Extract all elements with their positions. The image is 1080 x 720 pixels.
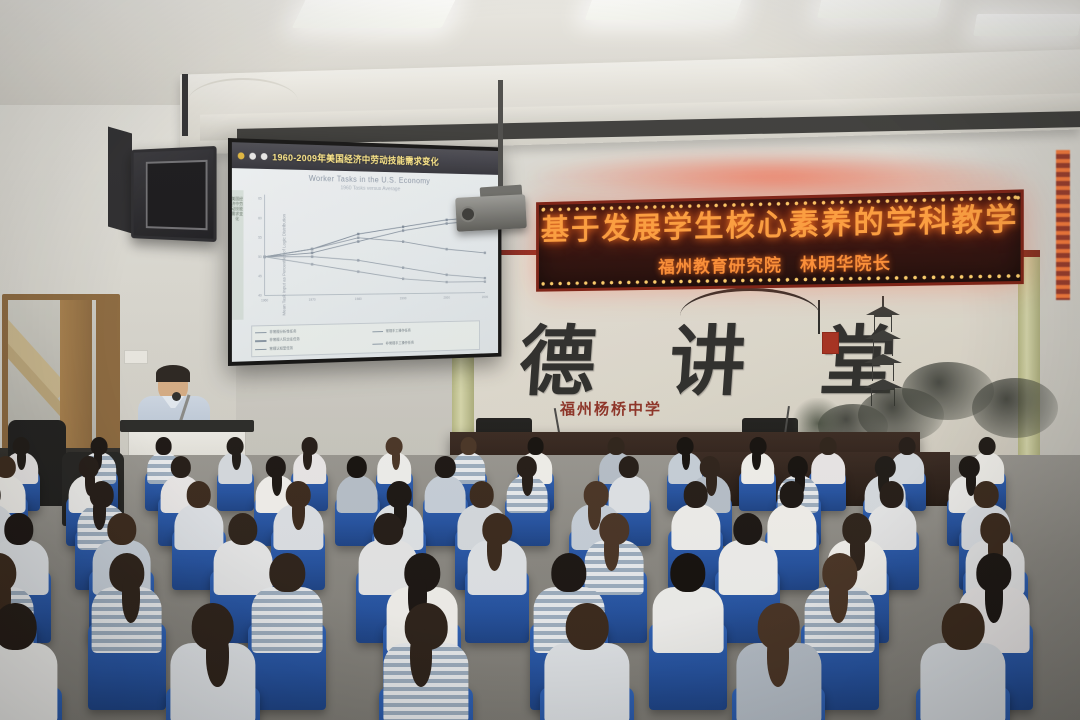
audience-head	[0, 603, 36, 650]
ceiling-projector	[455, 194, 527, 232]
svg-text:1980: 1980	[355, 297, 362, 301]
slide-title: 1960-2009年美国经济中劳动技能需求变化	[272, 149, 439, 167]
audience-member	[0, 603, 58, 720]
audience-member	[378, 437, 412, 487]
audience-member	[652, 553, 723, 658]
audience-head	[374, 513, 403, 545]
projector-mount-arm	[498, 80, 503, 200]
legend-swatch-icon	[255, 340, 266, 342]
audience-head	[879, 481, 904, 508]
chart-legend: 非常规分析性任务 非常规人际交往任务 常规认知型任务	[251, 320, 480, 357]
audience-hair	[487, 530, 502, 570]
audience-head	[527, 437, 544, 455]
audience-member	[741, 437, 775, 487]
legend-item: 非常规人际交往任务	[255, 336, 367, 344]
audience-member	[545, 603, 630, 720]
audience-head	[619, 456, 639, 478]
calligraphy-char-1: 德	[516, 300, 604, 410]
projector-lens-icon	[460, 206, 477, 223]
legend-swatch-icon	[372, 343, 383, 345]
ceiling-light-panel	[817, 0, 943, 18]
audience-member	[920, 603, 1005, 720]
audience-head	[551, 553, 586, 592]
svg-text:45: 45	[258, 274, 262, 278]
red-seal-stamp	[822, 332, 839, 354]
legend-label: 常规手工操作任务	[386, 328, 411, 333]
audience-head	[107, 513, 136, 545]
ceiling-light-panel	[585, 0, 746, 20]
audience-head	[187, 481, 212, 508]
audience-head	[899, 437, 916, 455]
audience-head	[0, 456, 16, 478]
legend-label: 常规认知型任务	[269, 346, 293, 352]
led-side-light-strip	[1056, 150, 1070, 300]
svg-text:1960: 1960	[261, 298, 268, 302]
audience-hair	[292, 496, 305, 530]
svg-text:1970: 1970	[309, 298, 316, 302]
audience-head	[820, 437, 837, 455]
podium-top-surface	[120, 420, 254, 432]
audience-member	[468, 513, 527, 600]
audience-head	[155, 437, 172, 455]
audience-torso	[920, 643, 1005, 720]
legend-item: 常规手工操作任务	[372, 327, 476, 334]
window-dot-icon	[238, 152, 245, 159]
svg-text:60: 60	[258, 216, 262, 220]
legend-item: 非常规手工操作任务	[372, 339, 476, 347]
audience-head	[228, 513, 257, 545]
audience-head	[779, 481, 804, 508]
legend-swatch-icon	[372, 331, 383, 333]
audience-head	[347, 456, 367, 478]
lecture-hall-photo: 德 讲 堂 福州杨桥中学 基于发展学生核心素养的学科教学 福州教育研究院 林明华…	[0, 0, 1080, 720]
audience-head	[470, 481, 495, 508]
svg-text:1990: 1990	[400, 296, 407, 300]
svg-text:2000: 2000	[444, 296, 451, 300]
audience-member	[170, 603, 255, 720]
legend-swatch-icon	[255, 349, 266, 351]
audience-head	[670, 553, 705, 592]
audience-member	[274, 481, 323, 554]
legend-item: 非常规分析性任务	[255, 327, 367, 335]
audience-hair	[522, 468, 533, 496]
podium-microphone-head	[172, 392, 181, 401]
audience-member	[91, 553, 162, 658]
audience-torso	[718, 540, 777, 595]
svg-text:50: 50	[258, 255, 262, 259]
audience-torso	[252, 587, 323, 653]
projection-screen-surface: 1960-2009年美国经济中劳动技能需求变化 美国经济中劳动技能需求变化 Wo…	[232, 142, 498, 362]
led-banner: 基于发展学生核心素养的学科教学 福州教育研究院 林明华院长	[536, 189, 1024, 291]
speaker-grille	[146, 160, 208, 230]
audience-hair	[232, 447, 241, 470]
ceiling-light-panel	[292, 0, 459, 28]
audience-hair	[303, 447, 312, 470]
svg-text:2009: 2009	[482, 295, 488, 299]
legend-label: 非常规人际交往任务	[269, 338, 299, 344]
window-dot-icon	[261, 153, 268, 160]
legend-label: 非常规分析性任务	[269, 329, 296, 335]
wall-speaker	[131, 146, 216, 242]
slide-sidebar-label: 美国经济中劳动技能需求变化	[232, 190, 244, 320]
audience-head	[0, 481, 1, 508]
school-name-label: 福州杨桥中学	[560, 398, 720, 419]
audience-member	[671, 481, 720, 554]
legend-item: 常规认知型任务	[255, 344, 367, 352]
audience-torso	[0, 643, 58, 720]
audience-member	[293, 437, 327, 487]
audience-head	[974, 481, 999, 508]
audience-head	[733, 513, 762, 545]
audience-head	[608, 437, 625, 455]
audience-member	[252, 553, 323, 658]
window-dot-icon	[249, 152, 256, 159]
audience-head	[942, 603, 985, 650]
legend-label: 非常规手工操作任务	[386, 341, 414, 347]
projection-screen: 1960-2009年美国经济中劳动技能需求变化 美国经济中劳动技能需求变化 Wo…	[228, 138, 501, 366]
audience-hair	[206, 629, 228, 688]
chart-plot-area: 196019701980199020002009 404550556065	[247, 192, 488, 309]
audience-member	[383, 603, 468, 720]
svg-text:65: 65	[258, 197, 262, 201]
audience-torso	[545, 643, 630, 720]
audience-torso	[652, 587, 723, 653]
mural-foliage	[972, 378, 1058, 438]
presenter-hair	[156, 365, 190, 382]
audience-member	[507, 456, 548, 517]
audience-member	[718, 513, 777, 600]
light-switch-plate[interactable]	[124, 350, 148, 364]
audience-head	[683, 481, 708, 508]
chart-legend-column-right: 常规手工操作任务 非常规手工操作任务	[370, 321, 479, 352]
audience-head	[460, 437, 477, 455]
audience-member	[337, 456, 378, 517]
calligraphy-venue-name: 德 讲 堂	[520, 295, 900, 415]
legend-swatch-icon	[255, 332, 266, 334]
audience-torso	[337, 475, 378, 513]
speaker-bracket	[108, 127, 132, 234]
audience-head	[979, 437, 996, 455]
audience-head	[4, 513, 33, 545]
svg-text:55: 55	[258, 236, 262, 240]
calligraphy-char-2: 讲	[666, 300, 754, 410]
ceiling-light-panel	[973, 14, 1080, 36]
audience-member	[218, 437, 252, 487]
audience-head	[435, 456, 455, 478]
audience-torso	[671, 504, 720, 550]
audience-hair	[752, 447, 761, 470]
audience-hair	[829, 574, 847, 623]
audience-hair	[604, 530, 619, 570]
svg-text:40: 40	[258, 294, 262, 298]
chart-legend-column-left: 非常规分析性任务 非常规人际交往任务 常规认知型任务	[252, 324, 370, 356]
audience-head	[171, 456, 191, 478]
audience-member	[736, 603, 821, 720]
audience-head	[270, 553, 305, 592]
audience-head	[566, 603, 609, 650]
audience-hair	[767, 629, 789, 688]
